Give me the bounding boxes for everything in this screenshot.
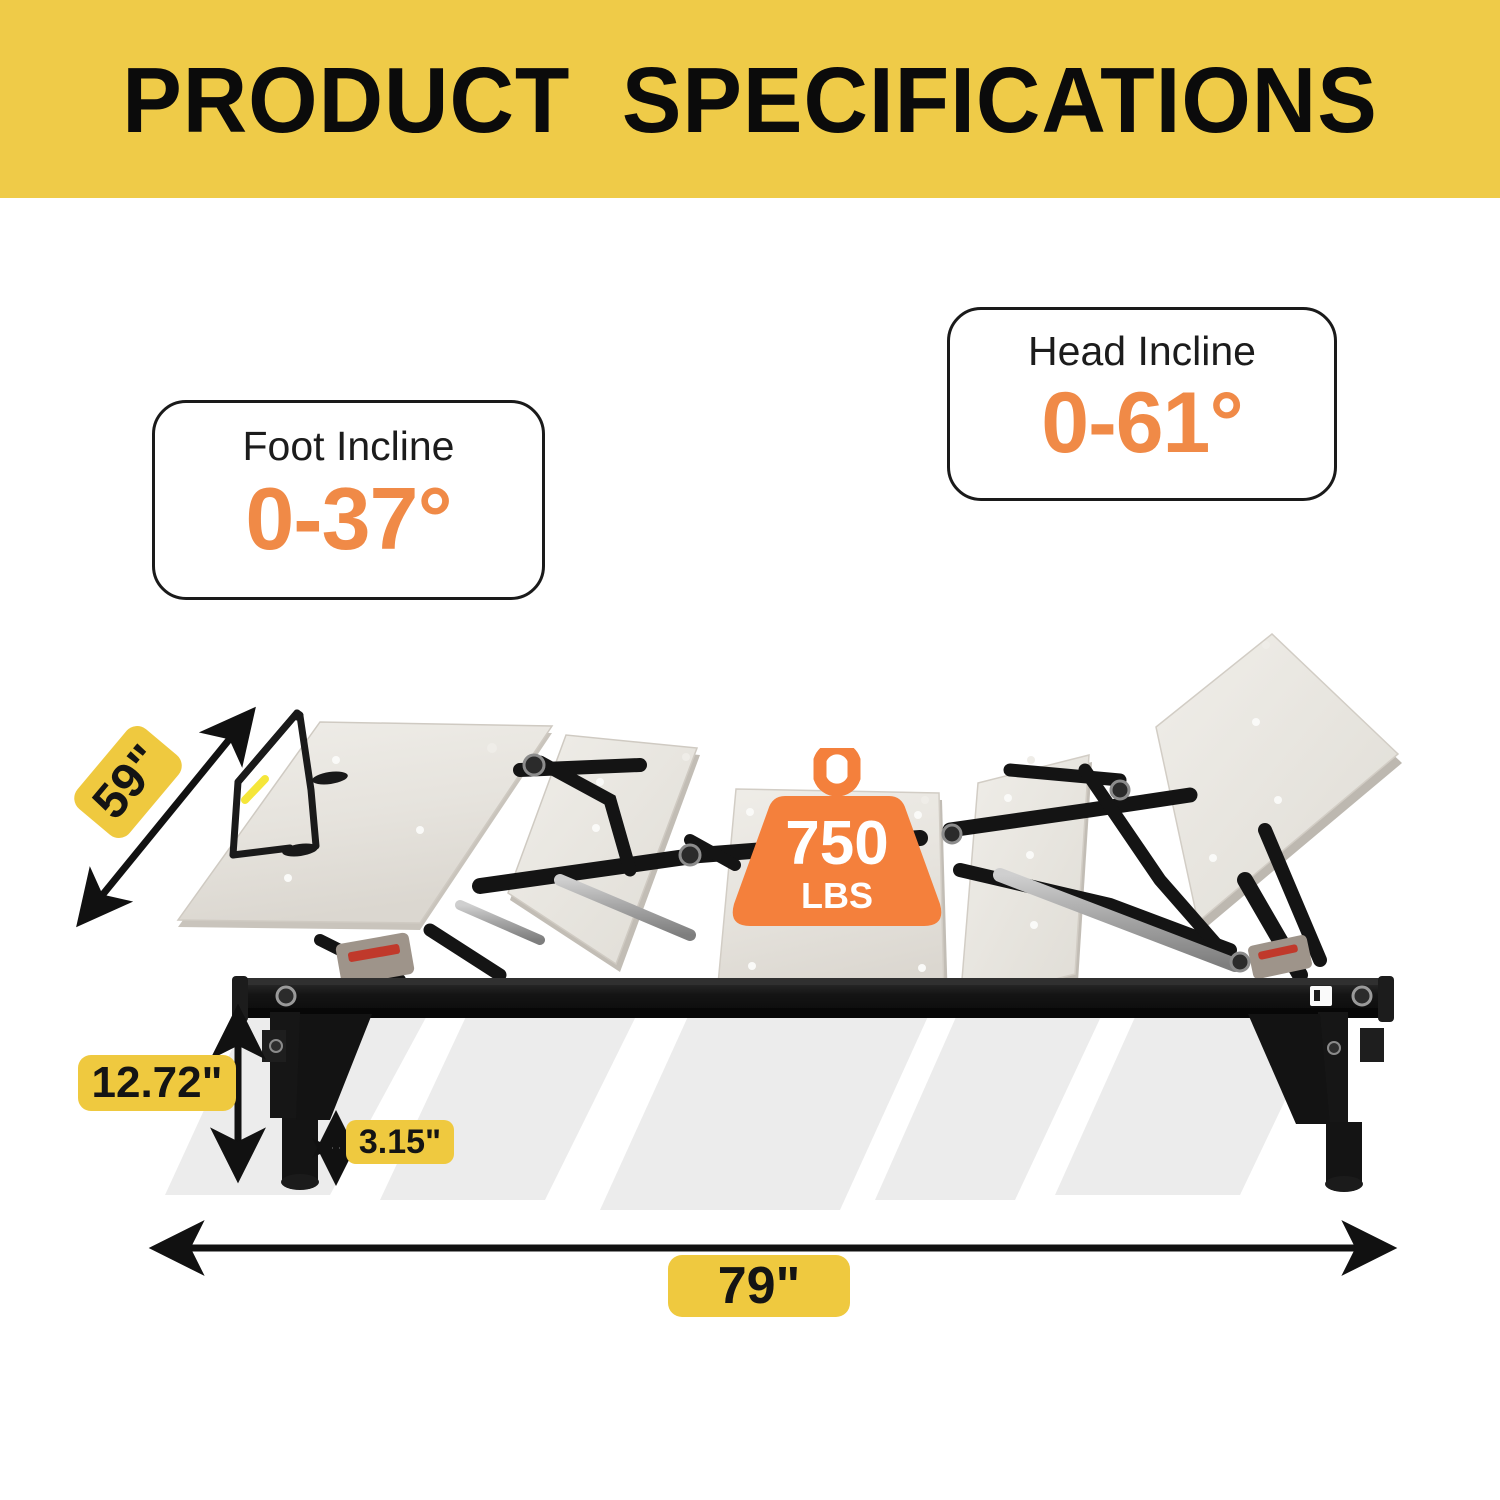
head-panel (1156, 634, 1402, 930)
base-frame (232, 976, 1394, 1022)
dimension-badge-length: 79" (668, 1255, 850, 1317)
weight-unit: LBS (801, 875, 873, 916)
head-incline-label: Head Incline (950, 328, 1334, 374)
weight-icon: 750 LBS (716, 748, 958, 930)
specification-infographic: PRODUCT SPECIFICATIONS (0, 0, 1500, 1500)
wire-marker (245, 779, 265, 800)
head-incline-value: 0-61° (950, 376, 1334, 470)
dimension-badge-frame-height: 12.72" (78, 1055, 236, 1111)
dimension-badge-leg-height: 3.15" (346, 1120, 454, 1164)
weight-value: 750 (785, 809, 888, 878)
callout-head-incline[interactable]: Head Incline 0-61° (947, 307, 1337, 501)
foot-incline-label: Foot Incline (155, 423, 542, 469)
callout-foot-incline[interactable]: Foot Incline 0-37° (152, 400, 545, 600)
foot-incline-value: 0-37° (155, 471, 542, 567)
